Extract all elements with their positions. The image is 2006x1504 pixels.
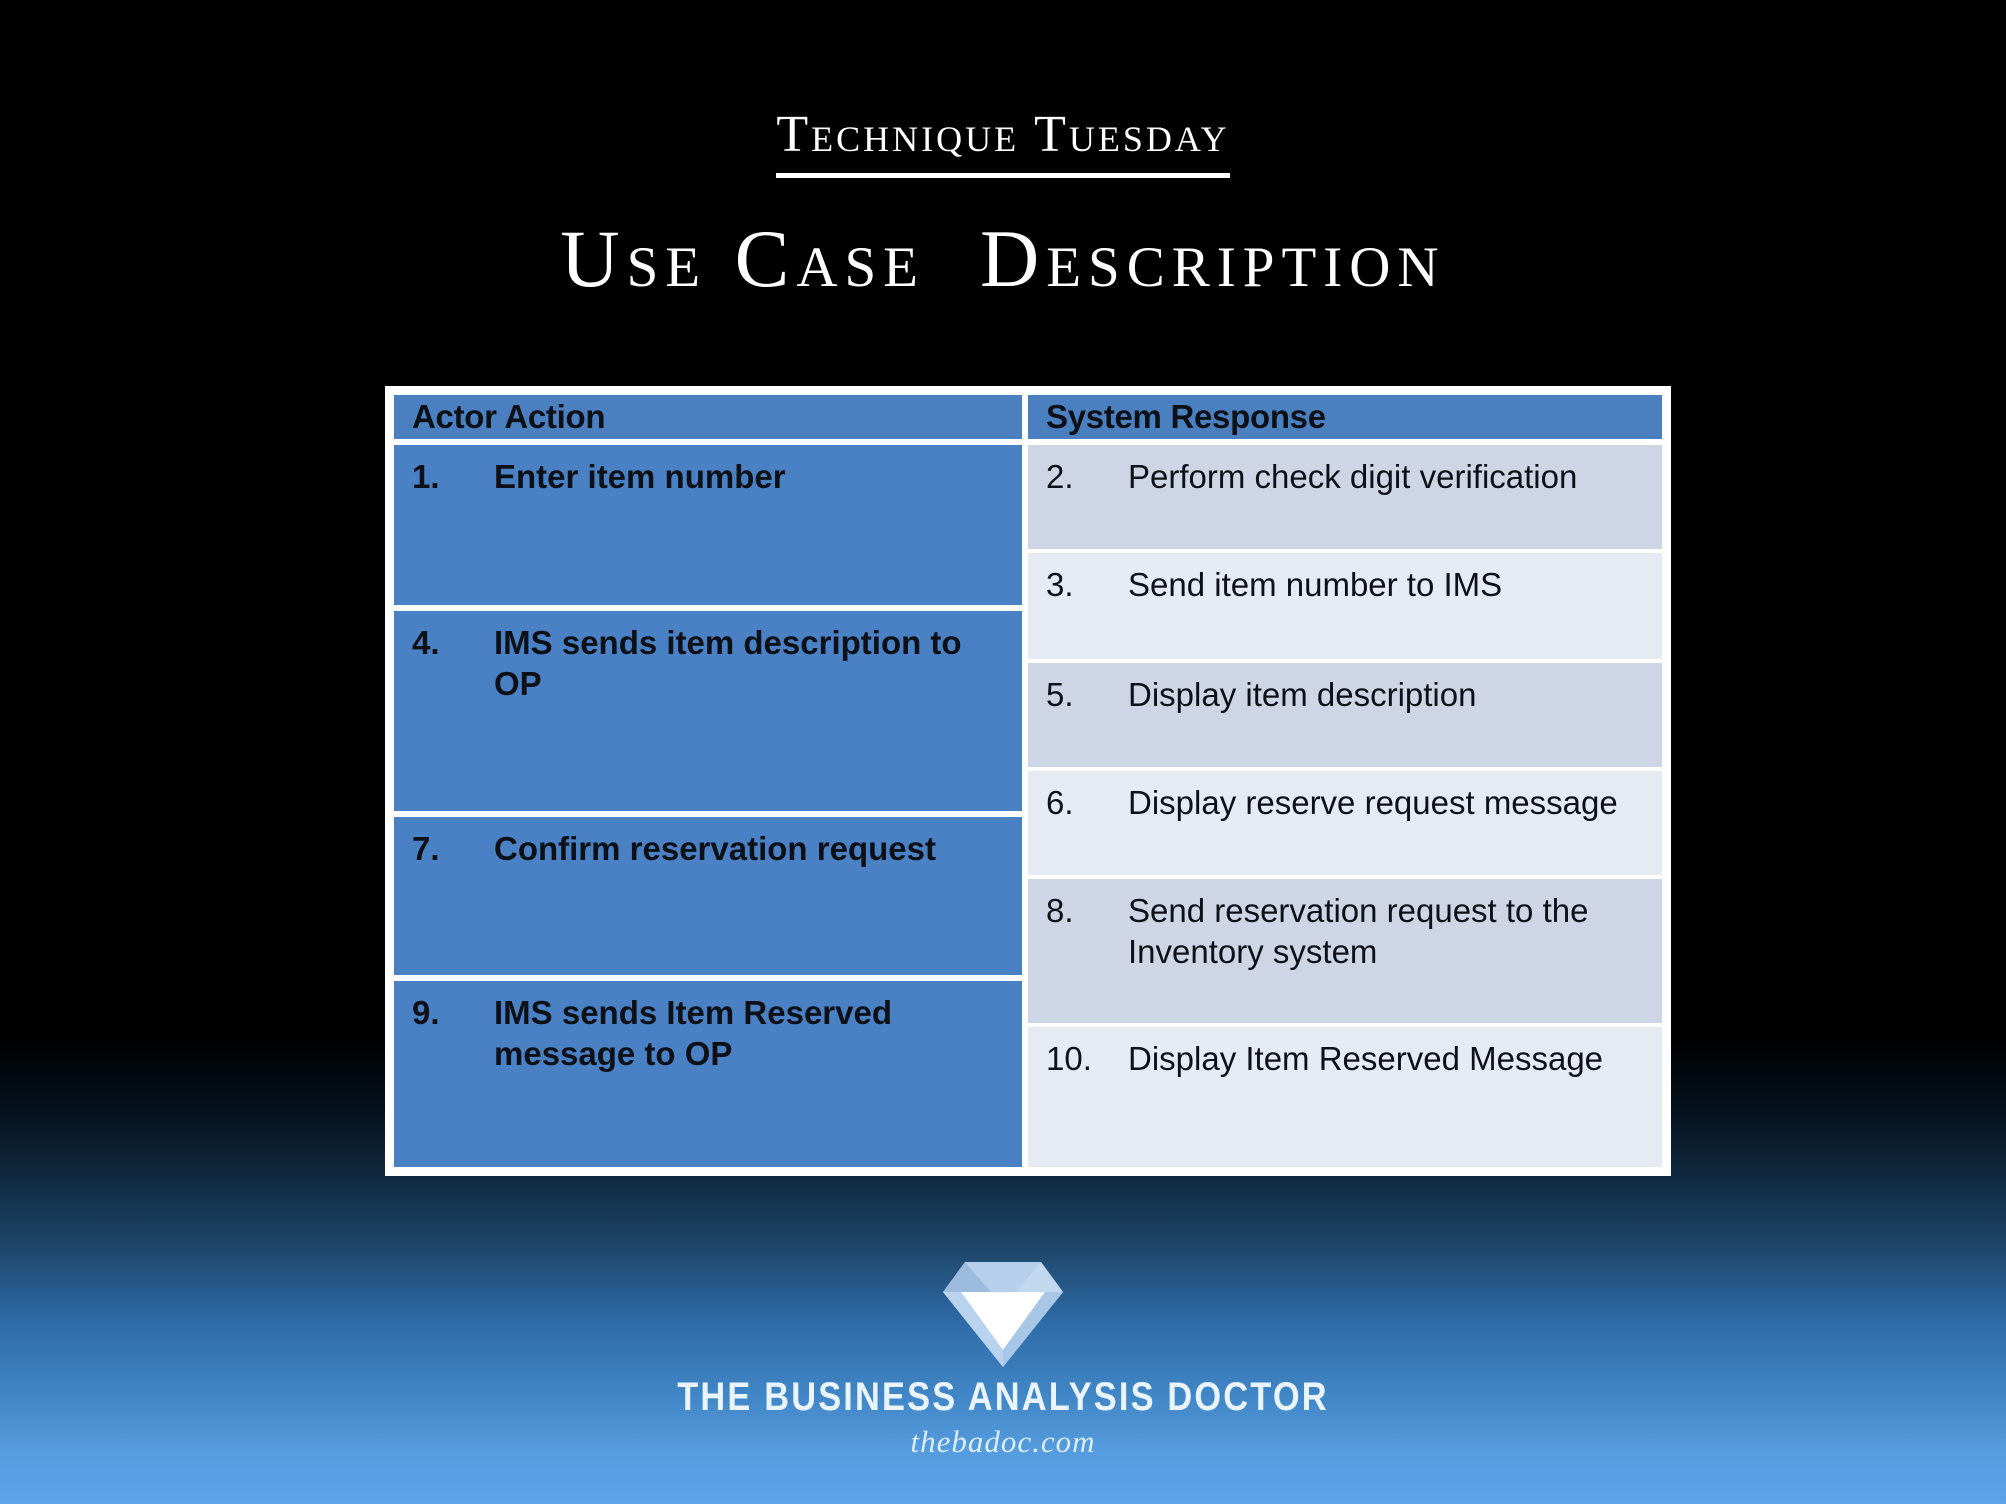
system-step-text: Send reservation request to the Inventor… [1128, 879, 1662, 973]
system-step-number: 6. [1028, 771, 1128, 824]
table-row-actor-9[interactable]: 9. IMS sends Item Reserved message to OP [394, 981, 1022, 1167]
column-header-system-response: System Response [1028, 395, 1662, 439]
actor-step-number: 4. [394, 611, 494, 664]
system-step-text: Display item description [1128, 663, 1662, 716]
actor-action-column: Actor Action 1. Enter item number 4. IMS… [394, 395, 1022, 1167]
series-kicker: Technique Tuesday [776, 108, 1229, 178]
title-block: Technique Tuesday Use Case Description [0, 108, 2006, 302]
table-row-system-5[interactable]: 5. Display item description [1028, 663, 1662, 767]
page-title: Use Case Description [0, 216, 2006, 302]
slide-canvas: Technique Tuesday Use Case Description A… [0, 0, 2006, 1504]
system-step-number: 5. [1028, 663, 1128, 716]
footer-branding: THE BUSINESS ANALYSIS DOCTOR thebadoc.co… [0, 1262, 2006, 1460]
column-header-actor-action: Actor Action [394, 395, 1022, 439]
diamond-icon [943, 1262, 1063, 1367]
system-step-text: Display reserve request message [1128, 771, 1662, 824]
system-step-number: 2. [1028, 445, 1128, 498]
use-case-table-frame: Actor Action 1. Enter item number 4. IMS… [385, 386, 1671, 1176]
table-row-system-8[interactable]: 8. Send reservation request to the Inven… [1028, 879, 1662, 1023]
actor-step-number: 9. [394, 981, 494, 1034]
system-step-text: Send item number to IMS [1128, 553, 1662, 606]
system-step-number: 8. [1028, 879, 1128, 932]
system-response-column: System Response 2. Perform check digit v… [1028, 395, 1662, 1167]
actor-step-text: Confirm reservation request [494, 817, 1022, 870]
brand-tagline: thebadoc.com [0, 1424, 2006, 1460]
brand-name: THE BUSINESS ANALYSIS DOCTOR [140, 1375, 1865, 1420]
table-row-system-3[interactable]: 3. Send item number to IMS [1028, 553, 1662, 659]
actor-step-text: Enter item number [494, 445, 1022, 498]
actor-action-header-label: Actor Action [394, 398, 605, 436]
table-row-actor-1[interactable]: 1. Enter item number [394, 445, 1022, 605]
table-row-actor-7[interactable]: 7. Confirm reservation request [394, 817, 1022, 975]
table-row-actor-4[interactable]: 4. IMS sends item description to OP [394, 611, 1022, 811]
actor-step-number: 1. [394, 445, 494, 498]
table-row-system-2[interactable]: 2. Perform check digit verification [1028, 445, 1662, 549]
system-response-header-label: System Response [1028, 398, 1326, 436]
actor-step-text: IMS sends item description to OP [494, 611, 1022, 705]
system-step-number: 10. [1028, 1027, 1128, 1080]
use-case-table: Actor Action 1. Enter item number 4. IMS… [394, 395, 1662, 1167]
system-step-text: Display Item Reserved Message [1128, 1027, 1662, 1080]
table-row-system-10[interactable]: 10. Display Item Reserved Message [1028, 1027, 1662, 1167]
system-step-number: 3. [1028, 553, 1128, 606]
table-row-system-6[interactable]: 6. Display reserve request message [1028, 771, 1662, 875]
actor-step-number: 7. [394, 817, 494, 870]
system-step-text: Perform check digit verification [1128, 445, 1662, 498]
actor-step-text: IMS sends Item Reserved message to OP [494, 981, 1022, 1075]
